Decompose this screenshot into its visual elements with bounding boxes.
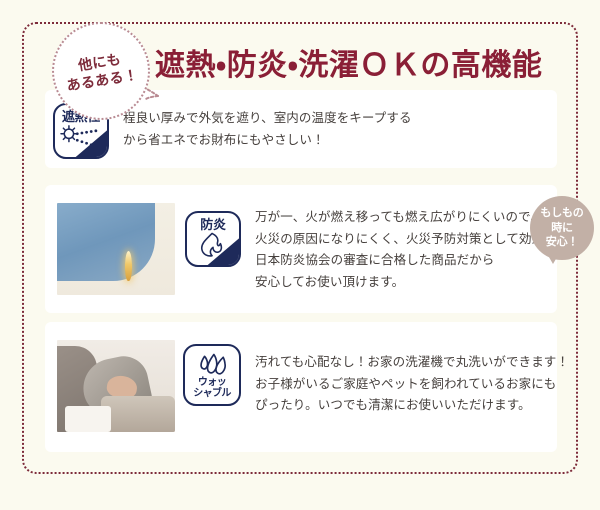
- body-line: から省エネでお財布にもやさしい！: [123, 130, 557, 152]
- flame-icon: [187, 213, 239, 265]
- badge-flame-retardant: 防炎: [185, 211, 241, 267]
- side-callout-line-2: 時に: [540, 221, 583, 236]
- speech-bubble: 他にも あるある！: [52, 22, 150, 120]
- feature-body-flame-retardant: 万が一、火が燃え移っても燃え広がりにくいので、 火災の原因になりにくく、火災予防…: [241, 185, 569, 293]
- header: 他にも あるある！ 遮熱・防炎・洗濯ＯＫの高機能: [22, 18, 578, 88]
- side-callout-line-1: もしもの: [540, 206, 583, 221]
- body-line: 日本防炎協会の審査に合格した商品だから: [255, 250, 569, 272]
- body-line: ぴったり。いつでも清潔にお使いいただけます。: [255, 395, 569, 417]
- side-callout-text: もしもの 時に 安心！: [540, 206, 583, 251]
- page-title: 遮熱・防炎・洗濯ＯＫの高機能: [155, 40, 542, 84]
- badge-washable: ウォッ シャブル: [183, 344, 241, 406]
- body-line: 万が一、火が燃え移っても燃え広がりにくいので、: [255, 207, 569, 229]
- body-line: 程良い厚みで外気を遮り、室内の温度をキープする: [123, 108, 557, 130]
- feature-body-heat-shield: 程良い厚みで外気を遮り、室内の温度をキープする から省エネでお財布にもやさしい！: [109, 90, 557, 151]
- water-droplets-icon: [185, 346, 239, 404]
- feature-card-flame-retardant: 防炎 万が一、火が燃え移っても燃え広がりにくいので、 火災の原因になりにくく、火…: [45, 185, 557, 313]
- body-line: 火災の原因になりにくく、火災予防対策として効果的！: [255, 229, 569, 251]
- side-callout-line-3: 安心！: [540, 235, 583, 250]
- body-line: 汚れても心配なし！お家の洗濯機で丸洗いができます！: [255, 352, 569, 374]
- feature-body-washable: 汚れても心配なし！お家の洗濯機で丸洗いができます！ お子様がいるご家庭やペットを…: [241, 322, 569, 417]
- photo-shape-machine-front: [65, 406, 111, 432]
- body-line: お子様がいるご家庭やペットを飼われているお家にも: [255, 374, 569, 396]
- photo-flame-retardant: [57, 203, 175, 295]
- speech-bubble-inner: 他にも あるある！: [63, 47, 140, 95]
- side-callout-peace-of-mind: もしもの 時に 安心！: [530, 196, 594, 260]
- feature-card-washable: ウォッ シャブル 汚れても心配なし！お家の洗濯機で丸洗いができます！ お子様がい…: [45, 322, 557, 452]
- photo-washable: [57, 340, 175, 432]
- photo-shape-machine: [101, 396, 175, 432]
- body-line: 安心してお使い頂けます。: [255, 272, 569, 294]
